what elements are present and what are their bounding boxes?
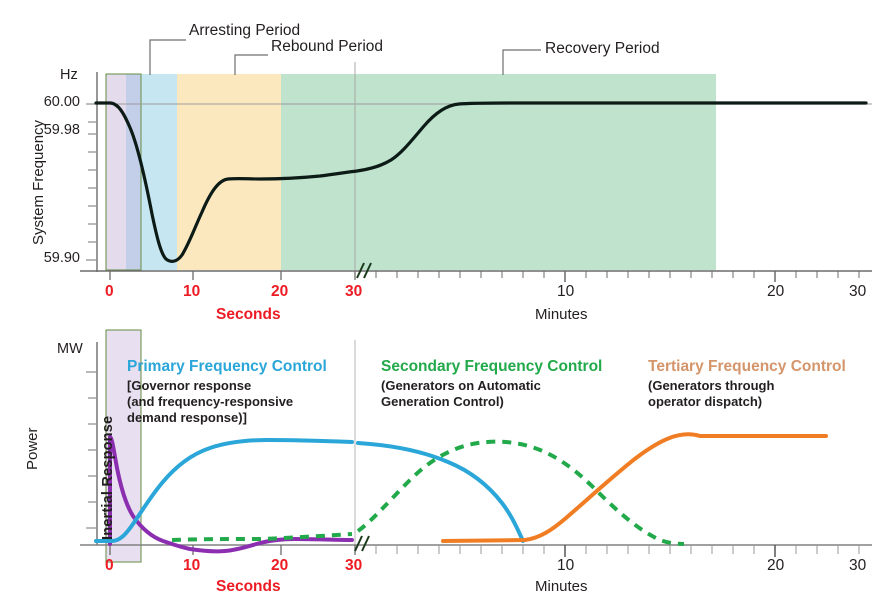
secondary-frequency-control-heading: Secondary Frequency Control: [381, 358, 602, 376]
secondary-frequency-control-curve: [172, 442, 684, 544]
annotation-recovery-period: Recovery Period: [545, 40, 660, 58]
top-x-axis-title-minutes: Minutes: [535, 306, 588, 324]
bottom-y-unit: MW: [57, 341, 83, 358]
top-xtick-m-10: 10: [557, 283, 574, 301]
bottom-xtick-m-10: 10: [557, 557, 574, 575]
top-xtick-s-20: 20: [271, 283, 288, 301]
primary-frequency-control-heading: Primary Frequency Control: [127, 358, 327, 376]
top-x-ticks-seconds: [110, 271, 355, 280]
figure-canvas: [0, 0, 888, 595]
frequency-response-figure: Arresting Period Rebound Period Recovery…: [0, 0, 888, 595]
top-xtick-s-10: 10: [183, 283, 200, 301]
top-x-ticks-minutes: [376, 271, 859, 282]
top-y-tick-5998: 59.98: [20, 122, 80, 139]
inertial-response-curve: [110, 437, 352, 551]
bottom-axis-break-icon: [355, 536, 369, 551]
bottom-xtick-m-30: 30: [849, 557, 866, 575]
top-xtick-s-30: 30: [345, 283, 362, 301]
top-y-axis-title: System Frequency: [30, 120, 48, 245]
top-y-ticks: [86, 104, 97, 260]
bottom-xtick-s-20: 20: [271, 557, 288, 575]
bottom-xtick-m-20: 20: [767, 557, 784, 575]
tertiary-frequency-control-sub: (Generators through operator dispatch): [648, 378, 774, 410]
bottom-x-axis-title-seconds: Seconds: [216, 578, 281, 596]
bottom-xtick-s-30: 30: [345, 557, 362, 575]
bottom-y-axis-title: Power: [24, 427, 42, 470]
bottom-xtick-s-0: 0: [105, 557, 114, 575]
bottom-x-axis-title-minutes: Minutes: [535, 578, 588, 596]
tertiary-frequency-control-curve: [443, 434, 826, 541]
top-xtick-m-30: 30: [849, 283, 866, 301]
primary-frequency-control-curve: [96, 440, 523, 541]
top-y-tick-5990: 59.90: [20, 250, 80, 267]
top-y-unit: Hz: [60, 67, 78, 84]
annotation-rebound-period: Rebound Period: [271, 38, 383, 56]
primary-frequency-control-sub: [Governor response (and frequency-respon…: [127, 378, 293, 426]
bottom-x-ticks-minutes: [376, 545, 859, 557]
secondary-frequency-control-sub: (Generators on Automatic Generation Cont…: [381, 378, 541, 410]
bottom-y-ticks: [86, 372, 97, 528]
top-y-tick-6000: 60.00: [20, 94, 80, 111]
tertiary-frequency-control-heading: Tertiary Frequency Control: [648, 358, 846, 376]
inertial-response-label: Inertial Response: [100, 416, 117, 540]
top-xtick-m-20: 20: [767, 283, 784, 301]
bottom-xtick-s-10: 10: [183, 557, 200, 575]
top-x-axis-title-seconds: Seconds: [216, 306, 281, 324]
top-xtick-s-0: 0: [105, 283, 114, 301]
